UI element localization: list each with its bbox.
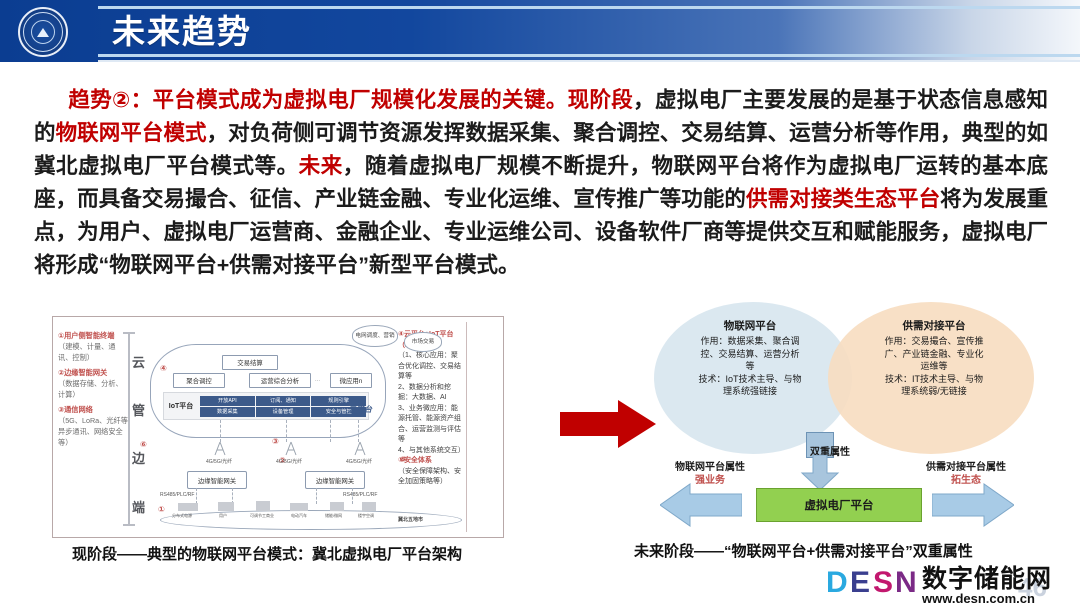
iot-cell-device-mgmt: 设备管理 (256, 407, 311, 417)
down-arrow-icon (800, 455, 840, 491)
cloud-app-analysis: 运营综合分析 (249, 373, 311, 388)
terminal-label-4: 电动汽车 (291, 513, 307, 519)
right-annotation-column: ④云平台+IoT平台 （功能） （1、核心应用：聚合优化调控、交易结算等 2、数… (398, 330, 464, 488)
header-rule-top (98, 6, 1080, 9)
watermark-letter-e: E (850, 568, 870, 598)
left-annotation-column: ①用户侧智能终端 （建模、计量、通讯、控制） ②边缘智能网关 （数据存储、分析、… (58, 330, 128, 448)
axis-label-cloud: 云 (132, 352, 145, 371)
left-figure-caption: 现阶段——典型的物联网平台模式：冀北虚拟电厂平台架构 (72, 543, 462, 564)
edge-gateway-box-2: 边缘智能网关 (305, 471, 365, 489)
antenna-icon-3 (352, 440, 368, 456)
comm-label-1: 4G/5G/光纤 (206, 458, 232, 465)
link-dash-8 (352, 488, 353, 504)
venn-right-line-5: 理系统弱/无链接 (846, 385, 1022, 398)
venn-right-line-3: 运维等 (846, 360, 1022, 373)
venn-left-line-1: 作用：数据采集、聚合调 (664, 335, 836, 348)
axis-label-pipe: 管 (132, 400, 145, 419)
left-arrow-icon (660, 483, 742, 527)
terminal-label-1: 分布式电源 (172, 513, 192, 519)
header-rule-bottom-2 (98, 60, 1080, 62)
marker-5: ⑤ (400, 455, 407, 464)
right-arrow-icon (932, 483, 1014, 527)
marker-6: ⑥ (140, 440, 147, 449)
terminal-icon-user (218, 502, 234, 511)
annotation-2-detail: （数据存储、分析、计算） (58, 378, 128, 400)
marker-1: ① (158, 505, 165, 514)
marker-3: ③ (272, 437, 279, 446)
edge-gateway-box-1: 边缘智能网关 (187, 471, 247, 489)
antenna-icon-2 (283, 440, 299, 456)
cloud-grid-node: 电网调度、营销 (352, 325, 398, 347)
terminal-icon-ev (290, 503, 308, 511)
left-arrow-label-line2: 强业务 (650, 474, 770, 487)
venn-left-line-2: 控、交易结算、运营分析 (664, 348, 836, 361)
annotation-1-title: ①用户侧智能终端 (58, 330, 128, 341)
bus-label-2: RS485/PLC/RF (343, 492, 377, 498)
cloud-app-aggregation: 聚合调控 (173, 373, 225, 388)
iot-cell-data-collect: 数据采集 (200, 407, 255, 417)
right-figure-caption: 未来阶段——“物联网平台+供需对接平台”双重属性 (634, 540, 973, 561)
terminal-label-2: 用户 (219, 513, 227, 519)
ellipsis-apps: ··· (315, 378, 320, 384)
watermark-letter-d: D (826, 568, 848, 598)
venn-right-line-4: 技术：IT技术主导、与物 (846, 373, 1022, 386)
axis-label-end: 端 (132, 497, 145, 516)
annotation-5-title: ⑤安全体系 (398, 456, 464, 467)
terminal-icon-storage (330, 502, 344, 511)
left-arrow-label: 物联网平台属性 强业务 (650, 461, 770, 487)
watermark-letter-n: N (895, 568, 917, 598)
annotation-2-title: ②边缘智能网关 (58, 367, 128, 378)
annotation-5-subtitle: （安全保障架构、安全加固策略等） (398, 467, 464, 488)
terminal-icon-industry (256, 501, 270, 511)
terminal-label-3: 可调节工商业 (250, 513, 274, 519)
venn-left-line-4: 技术：IoT技术主导、与物 (664, 373, 836, 386)
watermark-brand-cn: 数字储能网 (922, 566, 1052, 593)
watermark-url: www.desn.com.cn (922, 591, 1035, 606)
cloud-pipe-edge-end-axis (128, 332, 130, 524)
header-rule-bottom (98, 54, 1080, 57)
body-paragraph: 趋势②：平台模式成为虚拟电厂规模化发展的关键。现阶段，虚拟电厂主要发展的是基于状… (34, 84, 1048, 282)
right-arrow-label: 供需对接平台属性 拓生态 (898, 461, 1034, 487)
link-dash-1 (220, 420, 221, 442)
cloud-platform-label: 云平台 (348, 404, 372, 415)
iot-platform-label: IoT平台 (164, 401, 198, 411)
cloud-market-node: 市场交易 (404, 332, 442, 352)
page-title: 未来趋势 (112, 12, 252, 52)
cloud-app-settlement: 交易结算 (222, 355, 278, 370)
watermark-logo: D E S N 数字储能网 www.desn.com.cn (826, 566, 1070, 604)
paragraph-segment-6: 未来 (299, 154, 343, 178)
paragraph-segment-8: 供需对接类生态平台 (746, 187, 940, 211)
paragraph-segment-2: 现阶段 (568, 88, 634, 112)
comm-label-3: 4G/5G/光纤 (346, 458, 372, 465)
university-emblem-icon (18, 7, 68, 57)
annotation-3-title: ③通信网络 (58, 404, 128, 415)
region-label: 冀北五地市 (398, 516, 423, 523)
venn-right-title: 供需对接平台 (846, 318, 1022, 333)
figure-divider (466, 322, 467, 532)
link-dash-3 (330, 420, 331, 442)
venn-left-line-5: 理系统强链接 (664, 385, 836, 398)
watermark-letter-s: S (873, 568, 893, 598)
terminal-icon-hvac (362, 502, 376, 511)
left-arrow-label-line1: 物联网平台属性 (650, 461, 770, 474)
venn-left-text: 物联网平台 作用：数据采集、聚合调 控、交易结算、运营分析 等 技术：IoT技术… (664, 318, 836, 398)
right-arrow-label-line2: 拓生态 (898, 474, 1034, 487)
axis-tick-bottom (123, 524, 135, 526)
venn-left-line-3: 等 (664, 360, 836, 373)
terminal-icon-distributed (178, 503, 198, 511)
annotation-3-detail: （5G、LoRa、光纤等异步通讯、网络安全等） (58, 415, 128, 448)
marker-4: ④ (160, 364, 167, 373)
venn-right-text: 供需对接平台 作用：交易撮合、宣传推 广、产业链金融、专业化 运维等 技术：IT… (846, 318, 1022, 398)
axis-label-edge: 边 (132, 448, 145, 467)
venn-right-line-2: 广、产业链金融、专业化 (846, 348, 1022, 361)
paragraph-segment-1: 趋势②：平台模式成为虚拟电厂规模化发展的关键。 (68, 88, 568, 112)
terminal-label-6: 楼宇空调 (358, 513, 374, 519)
antenna-icon-1 (212, 440, 228, 456)
annotation-4-item-1: （1、核心应用：聚合优化调控、交易结算等 (398, 351, 464, 383)
terminal-label-5: 储能/微网 (325, 513, 342, 519)
link-dash-4 (358, 420, 359, 442)
iot-cell-subscribe: 订阅、通知 (256, 396, 311, 406)
slide-header: 未来趋势 (0, 0, 1080, 62)
virtual-power-plant-platform-box: 虚拟电厂平台 (756, 488, 922, 522)
paragraph-segment-4: 物联网平台模式 (56, 121, 207, 145)
iot-platform-strip: IoT平台 开放API 订阅、通知 规则引擎 数据采集 设备管理 安全与管控 (163, 392, 369, 420)
link-dash-5 (196, 488, 197, 504)
annotation-4-item-3: 3、业务微应用：能源托管、能源资产组合、运营监测与评估等 (398, 404, 464, 446)
venn-right-line-1: 作用：交易撮合、宣传推 (846, 335, 1022, 348)
right-arrow-label-line1: 供需对接平台属性 (898, 461, 1034, 474)
transition-arrow-icon (560, 398, 656, 450)
annotation-4-item-2: 2、数据分析和挖掘：大数据、AI (398, 383, 464, 404)
iot-cell-open-api: 开放API (200, 396, 255, 406)
comm-label-2: 4G/5G/光纤 (276, 458, 302, 465)
annotation-4-item-4: 4、与其他系统交互） (398, 446, 464, 457)
cloud-app-micro: 微应用n (330, 373, 372, 388)
link-dash-2 (286, 420, 287, 442)
link-dash-7 (316, 488, 317, 504)
venn-left-title: 物联网平台 (664, 318, 836, 333)
bus-label-1: RS485/PLC/RF (160, 492, 194, 498)
annotation-1-detail: （建模、计量、通讯、控制） (58, 341, 128, 363)
